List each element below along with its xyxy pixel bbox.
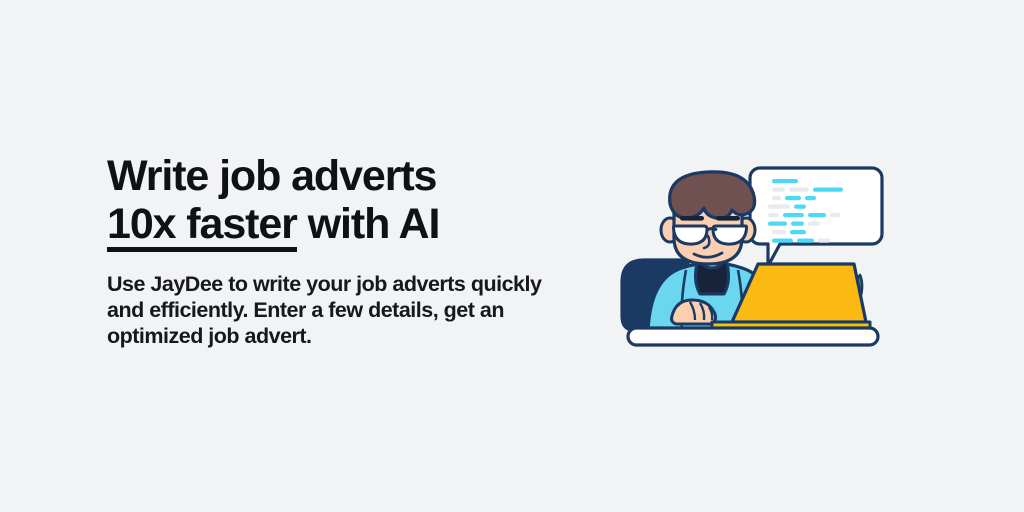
headline-emphasis: 10x faster bbox=[107, 200, 297, 249]
headline-line-2: 10x faster with AI bbox=[107, 200, 577, 249]
page-title: Write job adverts 10x faster with AI bbox=[107, 152, 577, 249]
illustration-svg bbox=[612, 160, 892, 360]
person-head bbox=[661, 172, 755, 264]
hero-copy: Write job adverts 10x faster with AI Use… bbox=[107, 152, 577, 349]
headline-line-1: Write job adverts bbox=[107, 152, 577, 200]
code-speech-bubble-icon bbox=[750, 168, 882, 266]
promo-banner: Write job adverts 10x faster with AI Use… bbox=[0, 0, 1024, 512]
hero-body-text: Use JayDee to write your job adverts qui… bbox=[107, 249, 552, 349]
person-writing-at-laptop-illustration bbox=[612, 160, 892, 360]
desk bbox=[628, 328, 878, 345]
person-hand bbox=[672, 300, 716, 324]
headline-line-2-rest: with AI bbox=[297, 200, 439, 248]
